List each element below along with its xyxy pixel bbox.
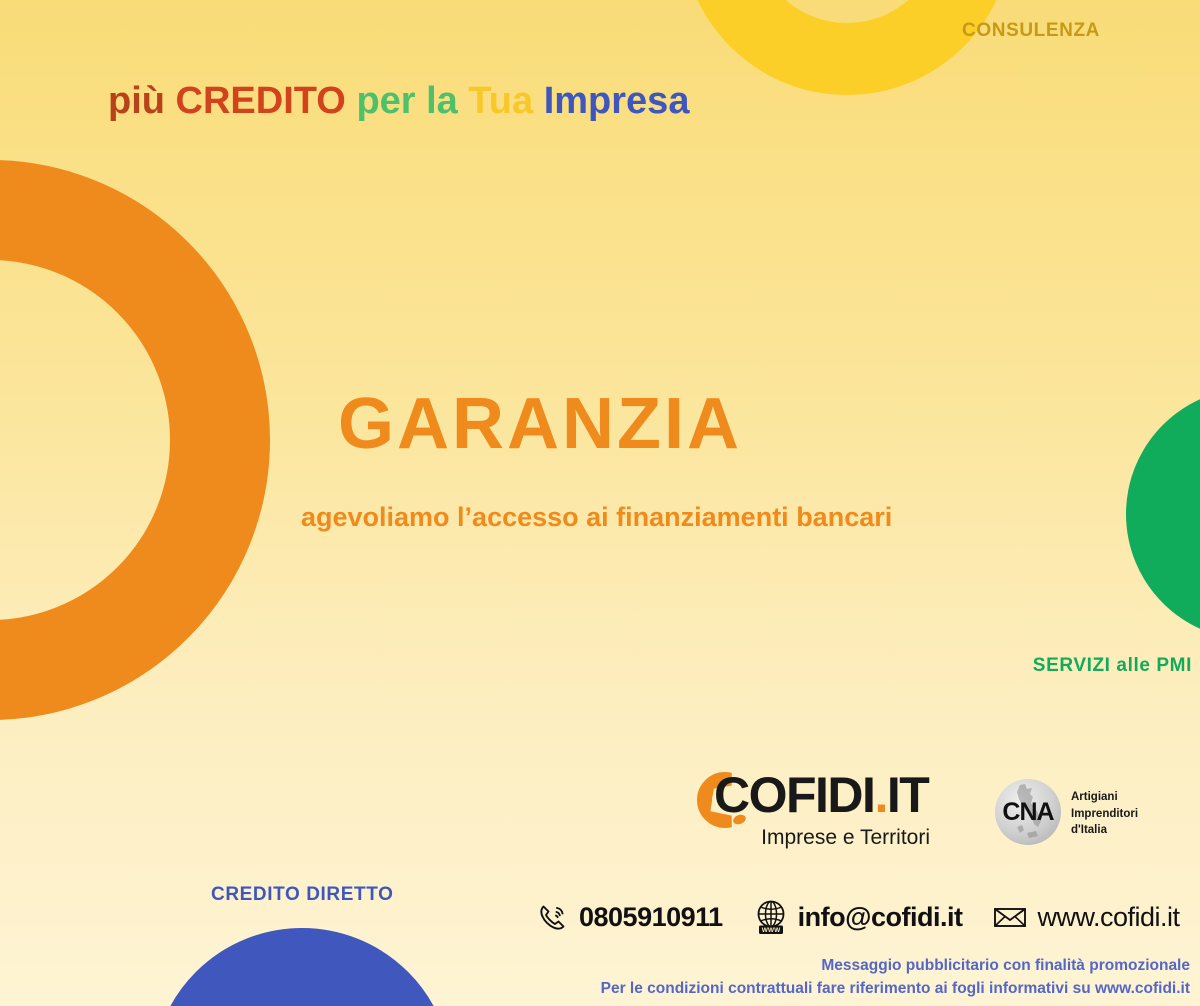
cna-logo: CNA Artigiani Imprenditori d'Italia xyxy=(995,779,1145,845)
contact-website[interactable]: www.cofidi.it xyxy=(992,902,1179,933)
tagline-word-credito: CREDITO xyxy=(176,80,346,122)
contact-email[interactable]: WWW info@cofidi.it xyxy=(753,898,963,936)
tagline-word-impresa: Impresa xyxy=(544,80,690,122)
label-credito-diretto: CREDITO DIRETTO xyxy=(211,884,393,906)
cna-tagline-line1: Artigiani xyxy=(1071,789,1138,806)
decorative-ring-blue xyxy=(152,928,452,1006)
promotional-banner: CONSULENZA SERVIZI alle PMI CREDITO DIRE… xyxy=(0,0,1200,1006)
contact-phone-text: 0805910911 xyxy=(579,902,723,933)
main-subheadline: agevoliamo l’accesso ai finanziamenti ba… xyxy=(301,502,892,533)
disclaimer: Messaggio pubblicitario con finalità pro… xyxy=(601,954,1190,1001)
decorative-ring-yellow xyxy=(682,0,1012,95)
decorative-ring-orange xyxy=(0,160,270,720)
cna-tagline: Artigiani Imprenditori d'Italia xyxy=(1071,789,1138,839)
cna-letters: CNA xyxy=(995,798,1061,827)
cofidi-subtitle: Imprese e Territori xyxy=(761,826,930,850)
phone-icon xyxy=(536,900,570,934)
cofidi-wordmark: COFIDI.IT xyxy=(714,766,928,824)
cofidi-wordmark-dot: . xyxy=(874,767,886,823)
decorative-circle-green xyxy=(1126,388,1200,640)
cofidi-wordmark-tld: IT xyxy=(887,767,928,823)
label-consulenza: CONSULENZA xyxy=(962,20,1100,42)
contact-email-text: info@cofidi.it xyxy=(798,902,963,933)
cna-tagline-line3: d'Italia xyxy=(1071,822,1138,839)
tagline: più CREDITO per la Tua Impresa xyxy=(108,80,689,123)
tagline-word-tua: Tua xyxy=(468,80,533,122)
label-servizi-alle-pmi: SERVIZI alle PMI xyxy=(1033,655,1192,677)
tagline-word-piu: più xyxy=(108,80,165,122)
tagline-word-per-la: per la xyxy=(356,80,457,122)
cna-medallion: CNA xyxy=(995,779,1061,845)
cofidi-logo: COFIDI.IT Imprese e Territori xyxy=(697,768,932,854)
envelope-icon xyxy=(992,903,1028,931)
cofidi-wordmark-main: COFIDI xyxy=(714,767,874,823)
disclaimer-line1: Messaggio pubblicitario con finalità pro… xyxy=(601,954,1190,977)
contact-website-text: www.cofidi.it xyxy=(1037,902,1179,933)
contact-phone[interactable]: 0805910911 xyxy=(536,900,723,934)
cna-tagline-line2: Imprenditori xyxy=(1071,806,1138,823)
disclaimer-line2: Per le condizioni contrattuali fare rife… xyxy=(601,977,1190,1000)
svg-text:WWW: WWW xyxy=(761,927,780,934)
contact-bar: 0805910911 WWW info@cofidi.it www.cofidi xyxy=(536,898,1180,936)
main-headline: GARANZIA xyxy=(338,383,742,465)
globe-www-icon: WWW xyxy=(753,898,789,936)
